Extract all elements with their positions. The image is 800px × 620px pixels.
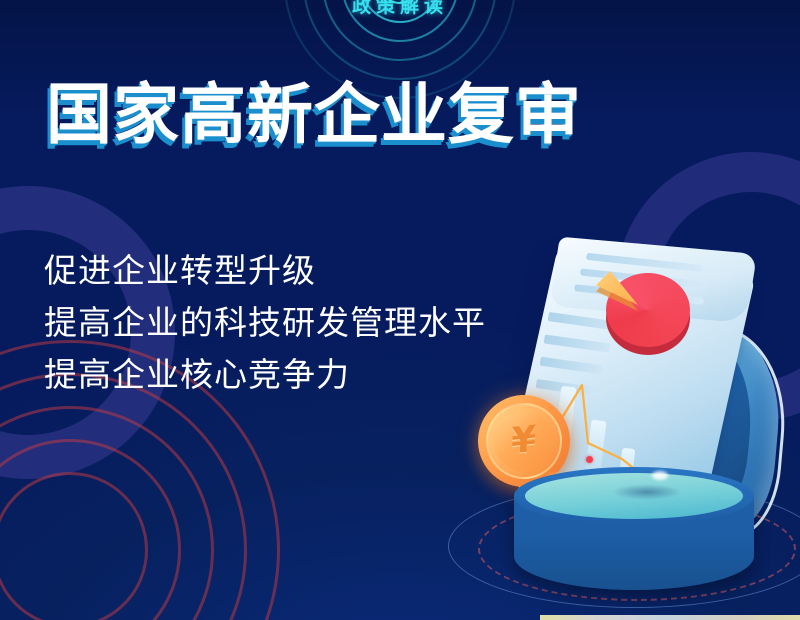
pie-chart [602,265,694,357]
benefit-line-1: 促进企业转型升级 [44,245,486,297]
report-illustration: ¥ [470,205,800,620]
benefit-line-3: 提高企业核心竞争力 [44,349,486,401]
bottom-cropped-strip [540,615,800,620]
page-title: 国家高新企业复审 [46,82,582,148]
trend-marker-2 [586,456,593,463]
benefit-list: 促进企业转型升级 提高企业的科技研发管理水平 提高企业核心竞争力 [44,245,486,401]
podium-highlight [652,471,668,480]
poster-root: 政策解读 国家高新企业复审 促进企业转型升级 提高企业的科技研发管理水平 提高企… [0,0,800,620]
podium-contact-shadow [612,484,682,500]
currency-symbol-icon: ¥ [511,422,537,461]
benefit-line-2: 提高企业的科技研发管理水平 [44,297,486,349]
top-cropped-label: 政策解读 [352,0,448,18]
